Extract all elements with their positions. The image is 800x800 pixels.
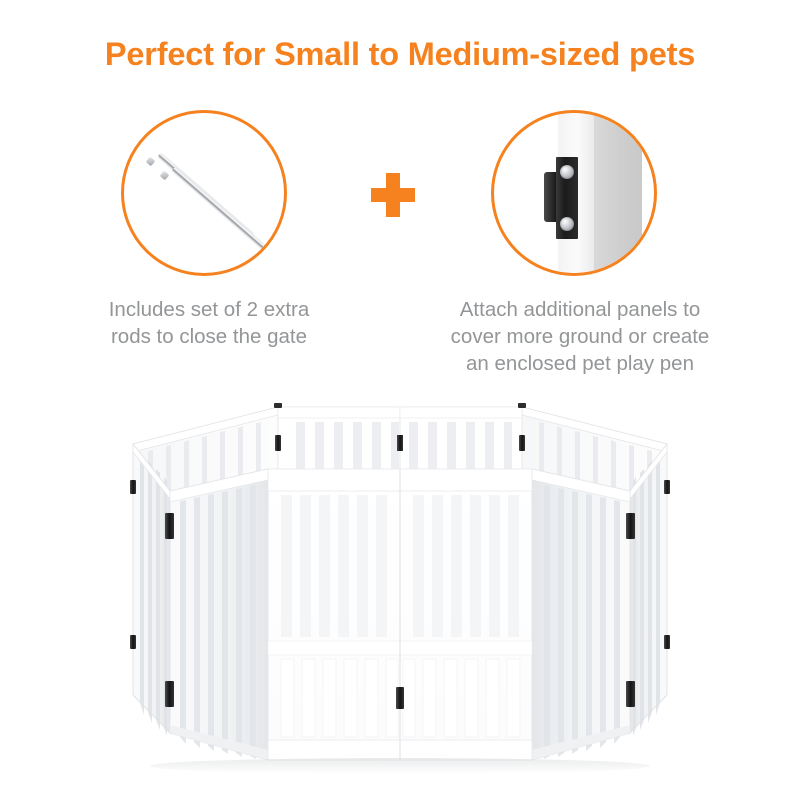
hinge-icon bbox=[397, 435, 403, 451]
hinge-photo bbox=[494, 113, 654, 273]
hinge-icon bbox=[130, 480, 136, 494]
caption-line: rods to close the gate bbox=[44, 323, 374, 350]
caption-line: Attach additional panels to bbox=[400, 296, 760, 323]
gate-panel-right-front bbox=[532, 469, 630, 760]
gate-panel-front-right bbox=[400, 469, 532, 760]
hinge-icon bbox=[519, 435, 525, 451]
page-title: Perfect for Small to Medium-sized pets bbox=[0, 36, 800, 73]
hinge-icon bbox=[664, 635, 670, 649]
ground-shadow bbox=[150, 758, 650, 774]
panel-side-surface bbox=[594, 113, 642, 273]
feature-image-extra-rods bbox=[121, 110, 287, 276]
hinge-icon bbox=[626, 513, 635, 539]
hinge-icon bbox=[130, 635, 136, 649]
hinge-cap-icon bbox=[274, 403, 282, 408]
rods-photo bbox=[124, 113, 284, 273]
hinge-icon bbox=[626, 681, 635, 707]
screw-icon bbox=[560, 165, 574, 179]
hinge-icon bbox=[275, 435, 281, 451]
feature-image-additional-panels bbox=[491, 110, 657, 276]
pet-gate-illustration bbox=[0, 395, 800, 785]
rod-head-icon bbox=[146, 157, 156, 167]
hinge-icon bbox=[664, 480, 670, 494]
feature-row bbox=[0, 108, 800, 288]
caption-line: Includes set of 2 extra bbox=[44, 296, 374, 323]
hinge-icon bbox=[165, 681, 174, 707]
product-image-pet-gate bbox=[0, 395, 800, 785]
feature-caption-additional-panels: Attach additional panels to cover more g… bbox=[400, 296, 760, 377]
caption-line: an enclosed pet play pen bbox=[400, 350, 760, 377]
metal-rod-icon bbox=[172, 167, 269, 252]
rod-head-icon bbox=[160, 171, 170, 181]
feature-caption-extra-rods: Includes set of 2 extra rods to close th… bbox=[44, 296, 374, 350]
hinge-icon bbox=[165, 513, 174, 539]
gate-panel-left-wing bbox=[133, 444, 170, 736]
caption-line: cover more ground or create bbox=[400, 323, 760, 350]
gate-panel-front-left bbox=[268, 469, 400, 760]
gate-panel-right-wing bbox=[630, 444, 667, 736]
hinge-cap-icon bbox=[518, 403, 526, 408]
plus-icon bbox=[371, 173, 415, 217]
hinge-icon bbox=[396, 687, 404, 709]
gate-panel-left-front bbox=[170, 469, 268, 760]
screw-icon bbox=[560, 217, 574, 231]
